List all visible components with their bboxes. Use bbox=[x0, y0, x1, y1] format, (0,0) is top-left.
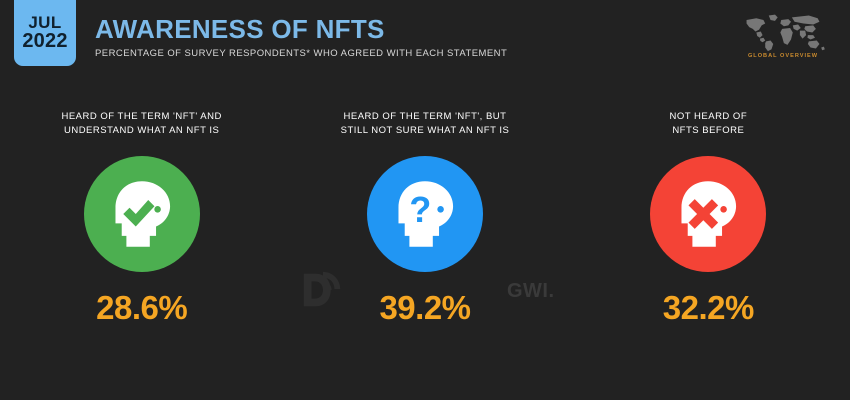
head-check-glyph bbox=[103, 175, 181, 253]
infographic-canvas: JUL 2022 AWARENESS OF NFTS PERCENTAGE OF… bbox=[0, 0, 850, 400]
stat-value: 39.2% bbox=[379, 291, 470, 324]
stat-column-heard-not-sure: HEARD OF THE TERM 'NFT', BUT STILL NOT S… bbox=[283, 110, 566, 380]
header: JUL 2022 AWARENESS OF NFTS PERCENTAGE OF… bbox=[0, 0, 850, 92]
world-map-icon bbox=[737, 12, 829, 52]
stat-label: NOT HEARD OF NFTS BEFORE bbox=[670, 110, 748, 144]
gwi-watermark: GWI. bbox=[507, 280, 555, 303]
stat-value: 28.6% bbox=[96, 291, 187, 324]
head-cross-icon bbox=[650, 156, 766, 272]
page-title: AWARENESS OF NFTS bbox=[95, 16, 507, 42]
stat-column-not-heard: NOT HEARD OF NFTS BEFORE 32.2% bbox=[567, 110, 850, 380]
head-check-icon bbox=[84, 156, 200, 272]
title-block: AWARENESS OF NFTS PERCENTAGE OF SURVEY R… bbox=[95, 16, 507, 59]
head-question-glyph: ? bbox=[386, 175, 464, 253]
head-cross-glyph bbox=[669, 175, 747, 253]
logo-caption: GLOBAL OVERVIEW bbox=[748, 53, 818, 59]
stat-label: HEARD OF THE TERM 'NFT', BUT STILL NOT S… bbox=[341, 110, 510, 144]
svg-text:?: ? bbox=[409, 190, 431, 230]
date-badge-month: JUL bbox=[28, 14, 61, 32]
page-subtitle: PERCENTAGE OF SURVEY RESPONDENTS* WHO AG… bbox=[95, 49, 507, 59]
stat-column-heard-and-understand: HEARD OF THE TERM 'NFT' AND UNDERSTAND W… bbox=[0, 110, 283, 380]
head-question-icon: ? bbox=[367, 156, 483, 272]
stat-label: HEARD OF THE TERM 'NFT' AND UNDERSTAND W… bbox=[61, 110, 221, 144]
global-overview-logo: GLOBAL OVERVIEW bbox=[734, 12, 832, 70]
date-badge: JUL 2022 bbox=[14, 0, 76, 66]
date-badge-year: 2022 bbox=[22, 31, 67, 52]
datareportal-logo-icon bbox=[300, 268, 346, 312]
stats-columns: HEARD OF THE TERM 'NFT' AND UNDERSTAND W… bbox=[0, 110, 850, 380]
stat-value: 32.2% bbox=[663, 291, 754, 324]
